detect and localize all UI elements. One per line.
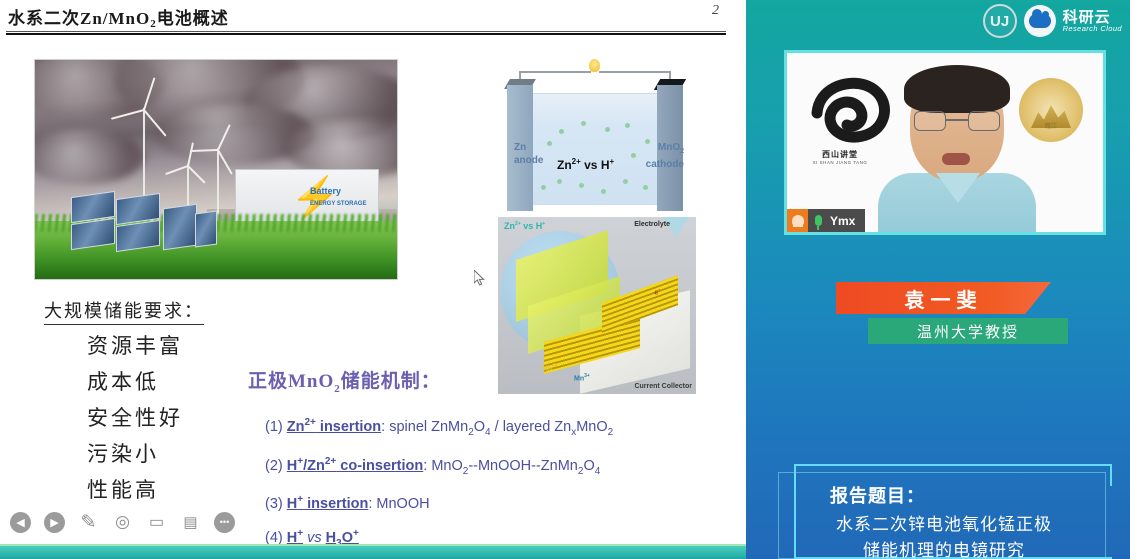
mechanism-item-number: (1) xyxy=(265,419,283,435)
page-title: 水系二次Zn/MnO2电池概述 xyxy=(8,4,229,29)
presentation-toolbar[interactable]: ◀ ▶ ✎ ◎ ▭ ▤ ••• xyxy=(10,506,275,538)
presenter-video-tile[interactable]: 西山讲堂 XI SHAN JIANG TANG 瓯江 Ymx xyxy=(784,50,1106,235)
presenter-figure xyxy=(892,69,1022,235)
research-cloud-icon xyxy=(1024,5,1056,37)
mechanism-item: (2) H+/Zn2+ co-insertion: MnO2--MnOOH--Z… xyxy=(265,447,735,486)
report-title-line-1: 水系二次锌电池氧化锰正极 xyxy=(770,510,1118,535)
next-slide-button[interactable]: ▶ xyxy=(44,512,65,533)
mechanism-item-rest: : spinel ZnMn2O4 / layered ZnxMnO2 xyxy=(381,419,613,435)
mechanism-list: (1) Zn2+ insertion: spinel ZnMn2O4 / lay… xyxy=(265,408,735,558)
mechanism-item-key: H+ insertion xyxy=(287,496,369,512)
zn-vs-h-label: Zn2+ vs H+ xyxy=(557,157,614,172)
light-bulb-icon xyxy=(589,59,600,72)
battery-container-label: Battery ENERGY STORAGE xyxy=(310,186,366,210)
chat-button[interactable]: ▤ xyxy=(180,512,201,533)
requirement-item: 成本低 xyxy=(87,364,183,400)
requirement-item: 性能高 xyxy=(87,472,183,508)
requirement-item: 资源丰富 xyxy=(87,328,183,364)
mn4-label: Mn4+ xyxy=(542,363,558,372)
previous-slide-button[interactable]: ◀ xyxy=(10,512,31,533)
speaker-title-banner: 温州大学教授 xyxy=(868,318,1068,344)
requirement-item: 污染小 xyxy=(87,436,183,472)
mechanism-heading: 正极MnO2储能机制： xyxy=(248,366,441,395)
electrochemical-cell-diagram: Znanode MnO2cathode Zn2+ vs H+ ZnSO4 aqu… xyxy=(497,57,693,219)
participant-name-label: Ymx xyxy=(828,214,865,228)
report-title-box: 报告题目： 水系二次锌电池氧化锰正极 储能机理的电镜研究 xyxy=(770,458,1118,559)
electrolyte-mech-label: Electrolyte xyxy=(634,221,670,228)
research-cloud-cn: 科研云 xyxy=(1063,10,1122,25)
speaker-name: 袁一斐 xyxy=(905,284,983,313)
report-title-line-2: 储能机理的电镜研究 xyxy=(770,536,1118,559)
solar-panel xyxy=(163,204,197,251)
mechanism-item: (3) H+ insertion: MnOOH xyxy=(265,485,735,519)
oujiang-gold-logo-icon: 瓯江 xyxy=(1019,78,1083,142)
requirement-item: 安全性好 xyxy=(87,400,183,436)
more-options-button[interactable]: ••• xyxy=(214,512,235,533)
mechanism-item-rest: : MnOOH xyxy=(368,496,429,512)
mno2-cathode-label: MnO2cathode xyxy=(646,141,684,171)
university-seal-icon: UJ xyxy=(983,4,1017,38)
eyeglasses-icon xyxy=(914,111,1000,131)
laser-focus-button[interactable]: ◎ xyxy=(112,512,133,533)
page-title-prefix: 水系二次Zn/MnO xyxy=(8,9,150,28)
report-heading: 报告题目： xyxy=(830,482,925,508)
solar-panel xyxy=(195,210,217,247)
requirements-list: 资源丰富 成本低 安全性好 污染小 性能高 xyxy=(87,328,183,508)
research-cloud-label: 科研云 Research Cloud xyxy=(1063,10,1122,33)
slide-area: 水系二次Zn/MnO2电池概述 2 ⚡ Battery ENERGY STORA… xyxy=(0,0,746,559)
slide-page-number: 2 xyxy=(712,3,719,19)
speaker-title: 温州大学教授 xyxy=(917,321,1019,342)
speaker-name-banner: 袁一斐 xyxy=(836,282,1051,314)
video-camera-button[interactable]: ▭ xyxy=(146,512,167,533)
requirements-heading: 大规模储能要求： xyxy=(44,297,204,325)
broadcast-side-panel: UJ 科研云 Research Cloud 西山讲堂 XI SHAN JIANG… xyxy=(746,0,1130,559)
mouse-cursor-icon xyxy=(474,270,486,286)
microphone-icon[interactable] xyxy=(808,209,828,232)
research-cloud-en: Research Cloud xyxy=(1063,25,1122,33)
panel-logos: UJ 科研云 Research Cloud xyxy=(983,3,1122,39)
current-collector-label: Current Collector xyxy=(634,383,692,390)
title-divider xyxy=(6,31,726,35)
calligraphy-logo-icon xyxy=(807,75,899,153)
energy-storage-photo: ⚡ Battery ENERGY STORAGE xyxy=(34,59,398,280)
mechanism-item: (1) Zn2+ insertion: spinel ZnMn2O4 / lay… xyxy=(265,408,735,447)
zn-vs-h-mech-label: Zn2+ vs H+ xyxy=(504,221,545,231)
mn3-label: Mn3+ xyxy=(574,373,590,382)
mechanism-illustration: Zn2+ vs H+ Electrolyte K+ e- Mn4+ Mn3+ C… xyxy=(498,217,696,394)
mechanism-item-number: (2) xyxy=(265,458,283,474)
slide-bottom-bar xyxy=(0,546,746,559)
participant-nametag: Ymx xyxy=(787,209,865,232)
mechanism-item-key: H+/Zn2+ co-insertion xyxy=(287,458,424,474)
annotate-pen-button[interactable]: ✎ xyxy=(78,512,99,533)
zinc-anode-label: Znanode xyxy=(514,141,543,167)
potassium-ion-label: K+ xyxy=(570,281,578,290)
avatar-icon xyxy=(787,209,808,232)
electron-label: e- xyxy=(654,287,660,296)
mechanism-item-rest: : MnO2--MnOOH--ZnMn2O4 xyxy=(423,458,600,474)
calligraphy-caption: 西山讲堂 XI SHAN JIANG TANG xyxy=(805,149,875,165)
page-title-suffix: 电池概述 xyxy=(157,9,229,28)
page-title-subscript: 2 xyxy=(150,18,157,30)
mechanism-item-key: Zn2+ insertion xyxy=(287,419,381,435)
oujiang-logo-label: 瓯江 xyxy=(1019,121,1083,130)
